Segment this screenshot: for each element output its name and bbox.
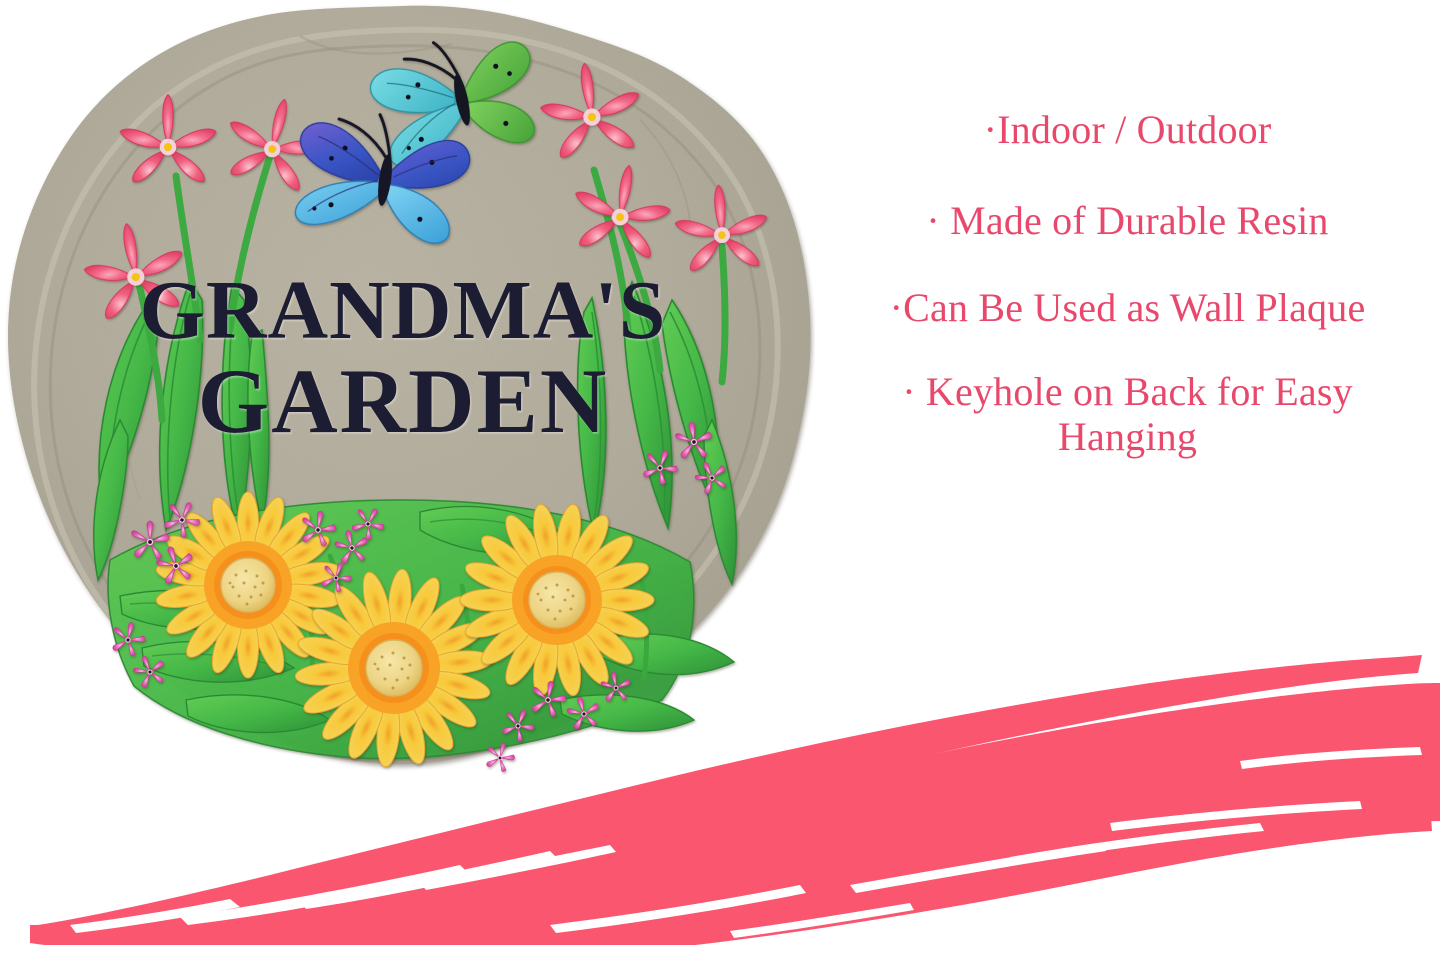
plaque-text-line2: GARDEN xyxy=(198,350,609,452)
bullet-glyph-icon: · xyxy=(890,285,904,330)
bullet-glyph-icon: · xyxy=(926,198,940,243)
bullet-glyph-icon: · xyxy=(984,107,998,152)
feature-item-wall-plaque: ·Can Be Used as Wall Plaque xyxy=(820,286,1435,331)
plaque-text: GRANDMA'S GARDEN xyxy=(140,264,667,452)
feature-label: Can Be Used as Wall Plaque xyxy=(903,285,1365,330)
feature-label: Indoor / Outdoor xyxy=(997,107,1271,152)
feature-item-indoor-outdoor: ·Indoor / Outdoor xyxy=(820,108,1435,153)
plaque-text-line1: GRANDMA'S xyxy=(140,264,667,357)
feature-item-durable-resin: · Made of Durable Resin xyxy=(820,199,1435,244)
pink-paint-brush-stroke-icon xyxy=(30,625,1445,945)
feature-label: Keyhole on Back for Easy Hanging xyxy=(926,369,1353,459)
bullet-glyph-icon: · xyxy=(902,369,916,414)
feature-label: Made of Durable Resin xyxy=(950,198,1329,243)
feature-item-keyhole-hanging: · Keyhole on Back for Easy Hanging xyxy=(820,370,1435,460)
feature-bullet-list: ·Indoor / Outdoor · Made of Durable Resi… xyxy=(820,108,1435,460)
